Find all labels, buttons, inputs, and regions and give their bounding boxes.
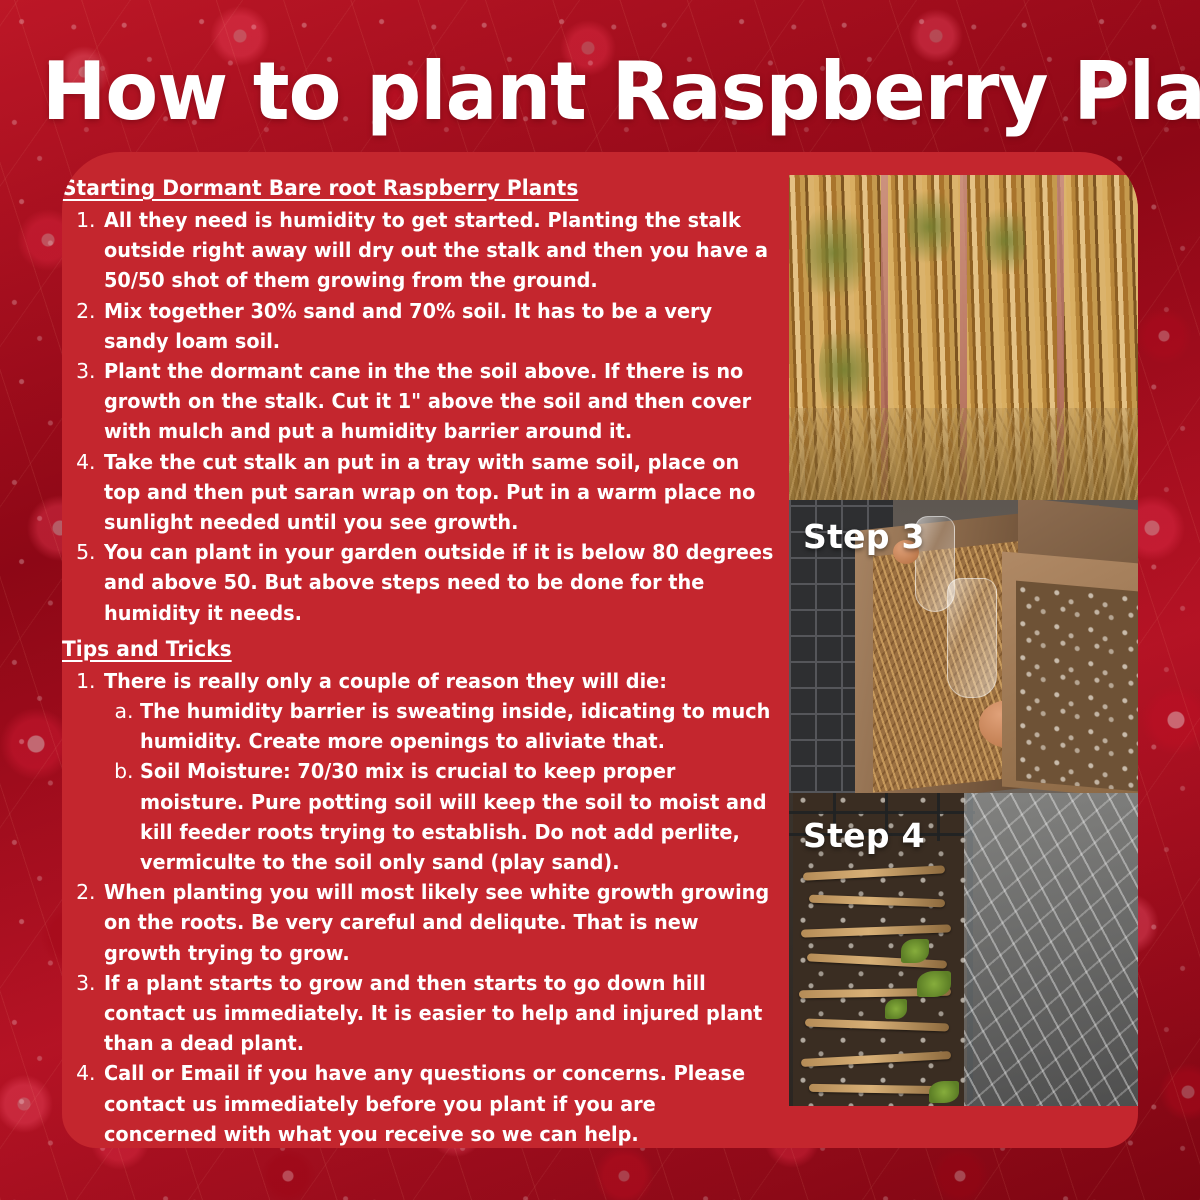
list-item: Mix together 30% sand and 70% soil. It h…: [102, 296, 775, 356]
list-item: All they need is humidity to get started…: [102, 205, 775, 296]
list-item: Take the cut stalk an put in a tray with…: [102, 447, 775, 538]
content-card: Starting Dormant Bare root Raspberry Pla…: [62, 152, 1138, 1148]
list-item: Soil Moisture: 70/30 mix is crucial to k…: [140, 756, 775, 877]
list-item: Call or Email if you have any questions …: [102, 1058, 775, 1148]
photo-column: Step 3: [789, 175, 1138, 1106]
list-item: Plant the dormant cane in the the soil a…: [102, 356, 775, 447]
section-heading-tips-and-tricks: Tips and Tricks: [62, 635, 732, 665]
starting-dormant-steps-list: All they need is humidity to get started…: [62, 205, 775, 628]
trays-with-canes-and-saran-wrap-photo: Step 4: [789, 793, 1138, 1106]
section-heading-starting-dormant: Starting Dormant Bare root Raspberry Pla…: [62, 174, 732, 204]
list-item: When planting you will most likely see w…: [102, 877, 775, 968]
instructions-column: Starting Dormant Bare root Raspberry Pla…: [62, 152, 789, 1148]
reasons-sublist: The humidity barrier is sweating inside,…: [104, 696, 775, 877]
bare-root-canes-photo: [789, 175, 1138, 500]
page-title: How to plant Raspberry Plants: [42, 46, 1127, 138]
raspberry-planting-infographic: How to plant Raspberry Plants Starting D…: [0, 0, 1200, 1200]
list-item: If a plant starts to grow and then start…: [102, 968, 775, 1059]
list-item: The humidity barrier is sweating inside,…: [140, 696, 775, 756]
photo-label: Step 4: [803, 817, 925, 855]
trays-with-humidity-bottles-photo: Step 3: [789, 500, 1138, 793]
list-item: There is really only a couple of reason …: [102, 666, 775, 877]
photo-label: Step 3: [803, 518, 925, 556]
tips-and-tricks-list: There is really only a couple of reason …: [62, 666, 775, 1148]
list-item: You can plant in your garden outside if …: [102, 537, 775, 628]
